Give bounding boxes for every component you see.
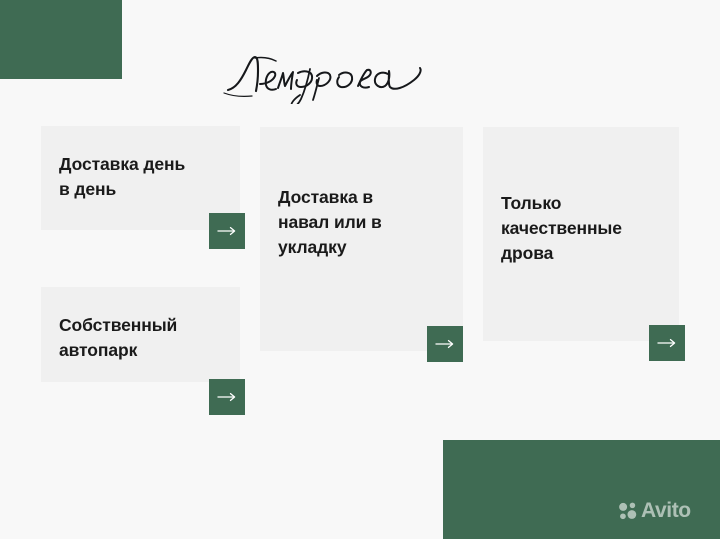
- arrow-right-icon: [217, 226, 237, 236]
- feature-card-day-delivery-arrow-button[interactable]: [209, 213, 245, 249]
- brand-logo: Лендрова: [222, 44, 427, 104]
- feature-card-own-fleet-arrow-button[interactable]: [209, 379, 245, 415]
- arrow-right-icon: [435, 339, 455, 349]
- avito-dots-icon: [618, 501, 637, 520]
- decorative-block-top-left: [0, 0, 122, 79]
- feature-card-quality-firewood[interactable]: Только качественные дрова: [483, 127, 679, 341]
- avito-watermark-label: Avito: [641, 500, 691, 521]
- feature-card-title: Собственный автопарк: [59, 313, 226, 363]
- feature-card-title: Только качественные дрова: [501, 191, 665, 266]
- feature-card-bulk-or-stacked[interactable]: Доставка в навал или в укладку: [260, 127, 463, 351]
- arrow-right-icon: [217, 392, 237, 402]
- decorative-block-bottom-right: [443, 440, 720, 539]
- feature-card-bulk-or-stacked-arrow-button[interactable]: [427, 326, 463, 362]
- avito-watermark: Avito: [618, 500, 691, 521]
- feature-card-quality-firewood-arrow-button[interactable]: [649, 325, 685, 361]
- feature-card-own-fleet[interactable]: Собственный автопарк: [41, 287, 240, 382]
- feature-card-title: Доставка день в день: [59, 152, 226, 202]
- feature-card-title: Доставка в навал или в укладку: [278, 185, 449, 260]
- arrow-right-icon: [657, 338, 677, 348]
- promo-banner: Лендрова Доставка день в день Собственны…: [0, 0, 720, 539]
- brand-logo-script: [222, 44, 427, 104]
